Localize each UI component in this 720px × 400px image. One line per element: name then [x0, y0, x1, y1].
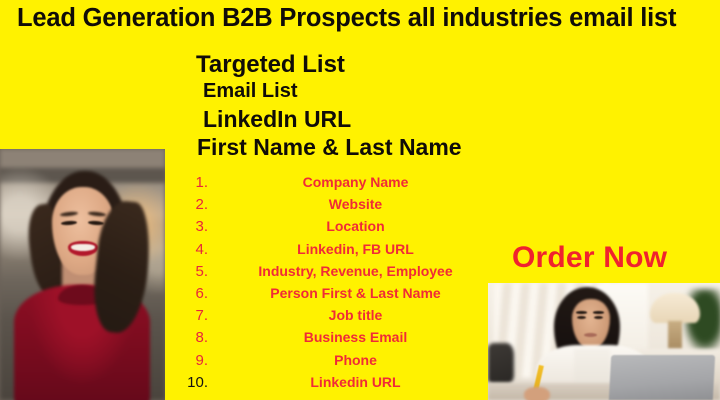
teeth-shape — [71, 244, 95, 251]
photo-woman-at-laptop — [488, 283, 720, 400]
lamp-shade-shape — [650, 293, 700, 323]
list-item: 10. Linkedin URL — [168, 374, 513, 396]
list-item-number: 6. — [168, 285, 208, 302]
header-line-email-list: Email List — [190, 81, 520, 102]
list-item: 3. Location — [168, 218, 513, 240]
hand-shape — [524, 387, 550, 400]
header-stack: Targeted List Email List LinkedIn URL Fi… — [190, 52, 520, 159]
list-item-number: 4. — [168, 241, 208, 258]
header-line-targeted-list: Targeted List — [190, 52, 520, 77]
list-item: 8. Business Email — [168, 329, 513, 351]
list-item-label: Business Email — [208, 329, 513, 345]
list-item-label: Website — [208, 196, 513, 212]
list-item-label: Location — [208, 218, 513, 234]
list-item-label: Company Name — [208, 174, 513, 190]
list-item: 7. Job title — [168, 307, 513, 329]
list-item-label: Job title — [208, 307, 513, 323]
list-item-number: 1. — [168, 174, 208, 191]
list-item-number: 10. — [168, 374, 208, 391]
list-item-number: 5. — [168, 263, 208, 280]
lips-shape — [584, 333, 597, 337]
list-item-number: 9. — [168, 352, 208, 369]
list-item-number: 3. — [168, 218, 208, 235]
foreground-object — [488, 343, 514, 383]
list-item-number: 8. — [168, 329, 208, 346]
header-line-linkedin-url: LinkedIn URL — [190, 107, 520, 131]
list-item: 9. Phone — [168, 352, 513, 374]
order-now-cta[interactable]: Order Now — [512, 241, 667, 275]
eye-right — [594, 316, 603, 319]
eyebrow-left — [576, 311, 587, 314]
list-item: 5. Industry, Revenue, Employee — [168, 263, 513, 285]
lamp-base-shape — [668, 321, 682, 349]
photo-smiling-woman — [0, 149, 165, 400]
promo-banner: Lead Generation B2B Prospects all indust… — [0, 0, 720, 400]
list-item-label: Industry, Revenue, Employee — [208, 263, 513, 279]
list-item-label: Person First & Last Name — [208, 285, 513, 301]
list-item: 6. Person First & Last Name — [168, 285, 513, 307]
feature-list: 1. Company Name 2. Website 3. Location 4… — [168, 174, 513, 396]
list-item-number: 7. — [168, 307, 208, 324]
list-item: 1. Company Name — [168, 174, 513, 196]
list-item-number: 2. — [168, 196, 208, 213]
page-title: Lead Generation B2B Prospects all indust… — [17, 2, 707, 34]
laptop-shape — [609, 355, 715, 400]
list-item-label: Phone — [208, 352, 513, 368]
header-line-first-last-name: First Name & Last Name — [190, 135, 520, 159]
list-item: 4. Linkedin, FB URL — [168, 241, 513, 263]
list-item-label: Linkedin, FB URL — [208, 241, 513, 257]
eyebrow-right — [593, 311, 604, 314]
list-item-label: Linkedin URL — [208, 374, 513, 390]
eye-left — [577, 316, 586, 319]
list-item: 2. Website — [168, 196, 513, 218]
